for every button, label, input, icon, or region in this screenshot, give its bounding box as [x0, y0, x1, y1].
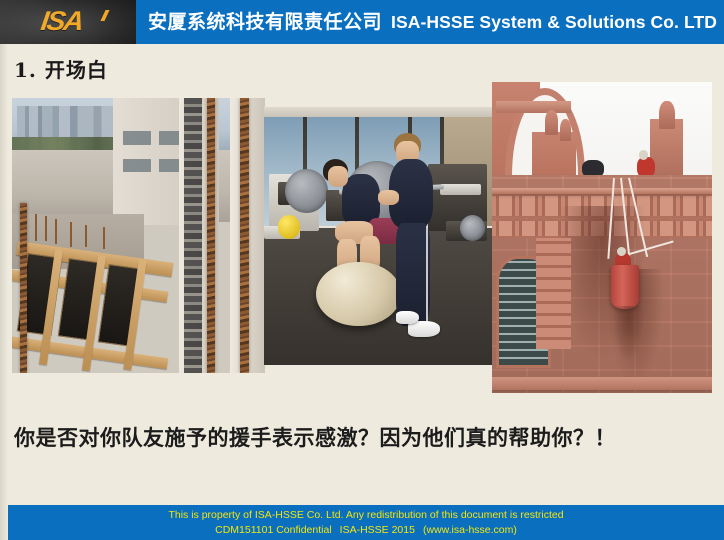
footer-website[interactable]: (www.isa-hsse.com) — [423, 524, 517, 536]
machine-pad — [440, 184, 481, 194]
background-window — [123, 159, 151, 173]
logo-panel: ISA — [0, 0, 136, 44]
weight-plate — [285, 169, 328, 213]
page-title: 1. 开场白 — [14, 54, 108, 83]
tracksuit-stripe — [426, 226, 428, 324]
pinnacle-finial — [659, 101, 674, 129]
footer-doc-code: CDM151101 Confidential — [215, 524, 332, 536]
presentation-slide: ISA 安厦系统科技有限责任公司ISA-HSSE System & Soluti… — [0, 0, 724, 540]
vertical-rebar — [20, 203, 27, 374]
logo-accent-mark — [100, 10, 109, 21]
rebar-stub — [70, 222, 72, 247]
construction-workers-photo — [12, 98, 265, 373]
gym-spotter-photo — [264, 107, 492, 365]
footer-line-2: CDM151101 ConfidentialISA-HSSE 2015(www.… — [8, 523, 724, 538]
spotter-shoe — [396, 311, 419, 324]
background-window — [123, 131, 151, 145]
finial — [545, 110, 558, 135]
string-course — [492, 188, 712, 194]
exercise-ball — [316, 262, 400, 327]
medicine-ball — [278, 215, 301, 238]
slide-caption: 你是否对你队友施予的援手表示感激？因为他们真的帮助你？！ — [14, 422, 714, 452]
slide-header-banner: ISA 安厦系统科技有限责任公司ISA-HSSE System & Soluti… — [0, 0, 724, 44]
rebar-stub — [35, 214, 37, 242]
suspended-barrel — [611, 265, 640, 309]
spotter-hand — [378, 190, 399, 205]
footer-org-year: ISA-HSSE 2015 — [340, 524, 415, 536]
window-grid-band — [184, 98, 202, 373]
drip-stain — [613, 306, 644, 362]
company-name-cn: 安厦系统科技有限责任公司 — [148, 11, 382, 33]
slide-footer: This is property of ISA-HSSE Co. Ltd. An… — [8, 505, 724, 540]
finial — [560, 119, 571, 141]
isa-logo: ISA — [39, 6, 84, 37]
rebar-stub — [85, 225, 87, 247]
roof-person-head — [639, 150, 648, 159]
arch-molding — [496, 101, 571, 113]
ceiling — [264, 107, 492, 117]
footer-line-1: This is property of ISA-HSSE Co. Ltd. An… — [8, 508, 724, 523]
header-company-title: 安厦系统科技有限责任公司ISA-HSSE System & Solutions … — [148, 0, 717, 44]
company-name-en: ISA-HSSE System & Solutions Co. LTD — [391, 12, 717, 32]
base-course — [492, 377, 712, 389]
lifter-head — [328, 166, 349, 187]
rebar-column — [207, 98, 215, 373]
rebar-stub — [55, 219, 57, 244]
rebar-stub — [45, 216, 47, 241]
slide-left-edge — [0, 44, 8, 540]
rebar-column — [240, 98, 249, 373]
facade-barrel-photo — [492, 82, 712, 393]
window-pilaster — [536, 238, 571, 350]
rebar-stub — [103, 227, 105, 249]
